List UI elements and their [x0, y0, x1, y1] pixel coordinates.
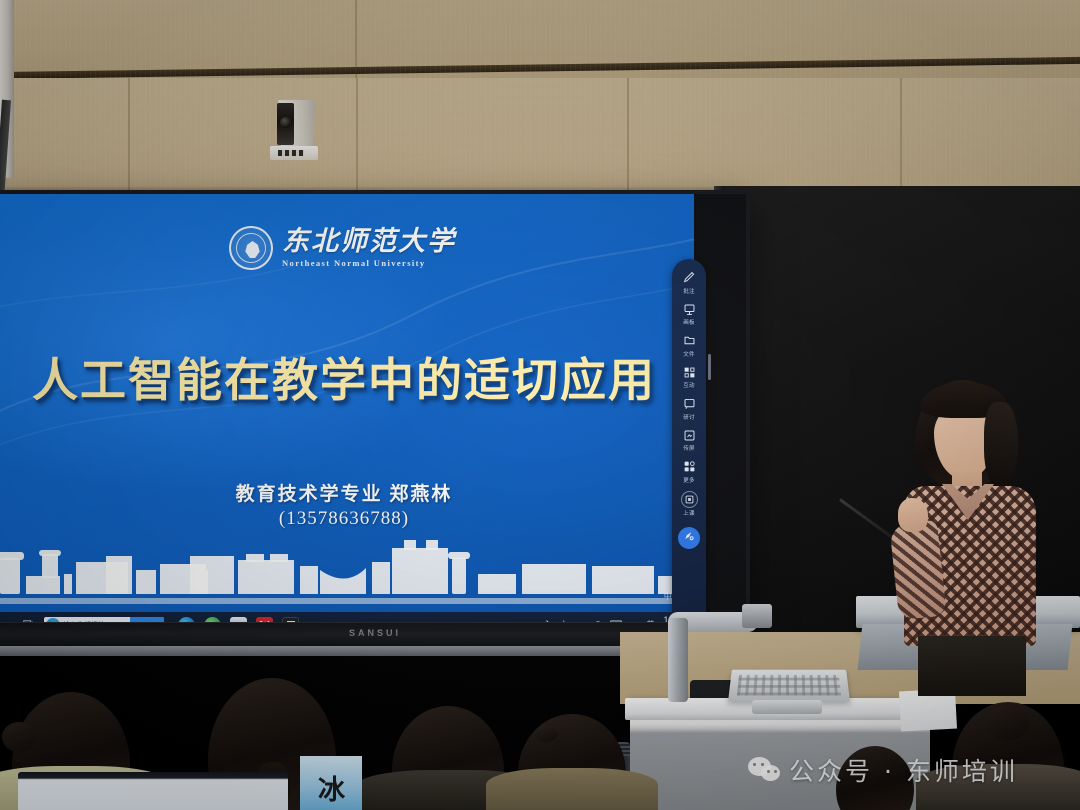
wechat-icon [748, 757, 780, 783]
toolbar-item-discussion[interactable]: 研讨 [674, 393, 704, 422]
campus-skyline-graphic [0, 536, 694, 598]
audience-hair-bun [2, 722, 36, 752]
folder-icon [682, 333, 697, 348]
university-logo: 东北师范大学 Northeast Normal University [229, 218, 459, 278]
toolbar-label-file: 文件 [683, 350, 694, 358]
university-seal-icon [229, 226, 273, 270]
pen-icon [682, 270, 697, 285]
presenter-skirt [918, 636, 1026, 696]
audience-shoulders [356, 770, 544, 810]
screen-scroll-indicator[interactable] [708, 354, 711, 380]
presentation-slide: 东北师范大学 Northeast Normal University 人工智能在… [0, 194, 694, 612]
skyline-ground-line [0, 598, 694, 604]
ptz-camera [268, 100, 322, 164]
discussion-icon [682, 396, 697, 411]
presenter-person [860, 380, 1060, 680]
camera-lens-icon [277, 103, 294, 145]
toolbar-item-annotate[interactable]: 批注 [674, 267, 704, 296]
screencast-icon [682, 428, 697, 443]
toolbar-label-screencast: 传屏 [683, 444, 694, 452]
audience-hair-bun [986, 706, 1030, 740]
toolbar-label-annotate: 批注 [683, 287, 694, 295]
visualizer-arm-column [668, 618, 688, 702]
lecture-hall-photo: 东北师范大学 Northeast Normal University 人工智能在… [0, 0, 1080, 810]
camera-mount-base [270, 146, 318, 160]
slide-title: 人工智能在教学中的适切应用 [0, 344, 694, 410]
foreground-laptop-base [18, 772, 288, 810]
toolbar-item-interaction[interactable]: 互动 [674, 362, 704, 391]
panel-brand-label: SANSUI [320, 628, 430, 641]
interactive-flat-panel[interactable]: 东北师范大学 Northeast Normal University 人工智能在… [0, 190, 750, 640]
presenter-hair-side [984, 402, 1018, 488]
foreground-sign-text: 冰 [318, 768, 345, 807]
toolbar-label-discussion: 研讨 [683, 413, 694, 421]
audience-head [392, 706, 504, 810]
university-name-en: Northeast Normal University [282, 259, 456, 268]
slide-phone-line: (13578636788) [0, 508, 694, 530]
wechat-watermark: 公众号 · 东师培训 [748, 752, 1018, 788]
document-camera-base [752, 700, 822, 714]
wall-lower-panel [0, 78, 1080, 200]
university-name-cn: 东北师范大学 [282, 228, 456, 255]
slide-presenter-line: 教育技术学专业 郑燕林 [0, 479, 694, 506]
thermos-flask [606, 742, 630, 810]
interaction-icon [682, 365, 697, 380]
toolbar-item-screencast[interactable]: 传屏 [674, 425, 704, 454]
whiteboard-icon [682, 302, 697, 317]
foreground-sign: 冰 [300, 756, 362, 810]
toolbar-item-start-class[interactable]: 上课 [674, 488, 704, 519]
watermark-text: 公众号 · 东师培训 [789, 752, 1018, 788]
smartboard-side-toolbar[interactable]: 批注 画板 文件 互动 [672, 259, 706, 659]
presenter-hand [898, 498, 928, 532]
toolbar-label-more: 更多 [683, 476, 694, 484]
toolbar-label-interaction: 互动 [683, 381, 694, 389]
toolbar-label-start-class: 上课 [683, 509, 694, 517]
toolbar-label-whiteboard: 画板 [683, 318, 694, 326]
quick-action-icon [683, 529, 695, 547]
document-camera-panel [728, 670, 850, 702]
toolbar-item-more[interactable]: 更多 [674, 456, 704, 485]
presenter-arm [889, 520, 947, 620]
toolbar-item-file[interactable]: 文件 [674, 330, 704, 359]
toolbar-quick-action-button[interactable] [678, 527, 700, 549]
toolbar-item-whiteboard[interactable]: 画板 [674, 299, 704, 328]
grid-more-icon [682, 459, 697, 474]
audience-hair-clip [534, 726, 558, 742]
class-start-icon [681, 491, 698, 508]
panel-stand-bar [0, 646, 690, 656]
visualizer-arm-head [742, 604, 772, 628]
